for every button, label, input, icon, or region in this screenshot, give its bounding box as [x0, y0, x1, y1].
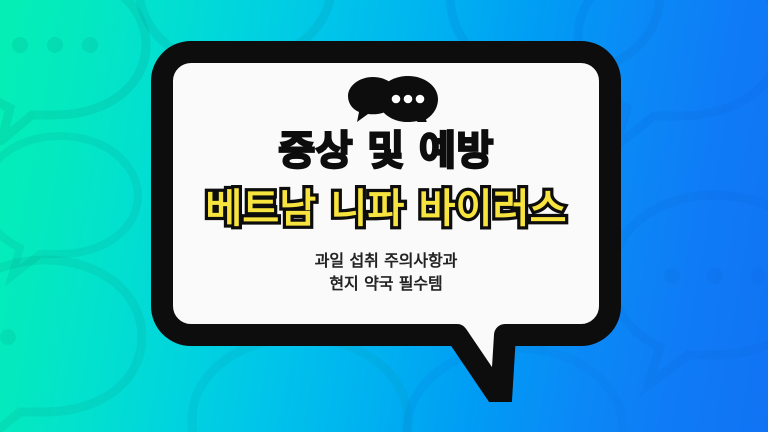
bubble-content: 증상 및 예방 베트남 니파 바이러스 과일 섭취 주의사항과 현지 약국 필수… — [168, 58, 604, 340]
bg-bubble-icon — [0, 120, 150, 290]
thumbnail-canvas: 증상 및 예방 베트남 니파 바이러스 과일 섭취 주의사항과 현지 약국 필수… — [0, 0, 768, 432]
subtitle-block: 과일 섭취 주의사항과 현지 약국 필수템 — [315, 249, 458, 295]
title-text: 베트남 니파 바이러스 — [205, 187, 566, 231]
subtitle-line-1: 과일 섭취 주의사항과 — [315, 249, 458, 272]
headline-text: 증상 및 예방 — [278, 130, 493, 173]
double-chat-bubble-icon — [343, 74, 439, 122]
main-speech-bubble: 증상 및 예방 베트남 니파 바이러스 과일 섭취 주의사항과 현지 약국 필수… — [150, 40, 622, 402]
subtitle-line-2: 현지 약국 필수템 — [315, 272, 458, 295]
